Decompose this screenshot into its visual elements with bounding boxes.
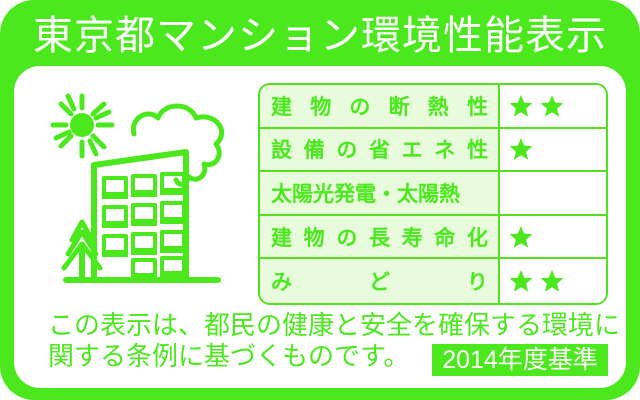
rating-label-insulation: 建 物 の 断 熱 性 [260, 85, 500, 127]
rating-label-longevity: 建 物 の 長 寿 命 化 [260, 216, 500, 258]
star-icon [509, 269, 533, 293]
sun-icon [70, 113, 94, 137]
star-icon [509, 137, 533, 161]
ratings-table: 建 物 の 断 熱 性 設 備 の 省 エ [258, 83, 608, 305]
table-row: 太陽光発電・太陽熱 [260, 172, 606, 216]
rating-stars-longevity [500, 216, 606, 258]
page-title: 東京都マンション環境性能表示 [33, 14, 607, 58]
year-standard-badge: 2014年度基準 [432, 344, 608, 376]
rating-label-energy-efficiency: 設 備 の 省 エ ネ 性 [260, 129, 500, 171]
table-row: 設 備 の 省 エ ネ 性 [260, 129, 606, 173]
footer: この表示は、都民の健康と安全を確保する環境に 関する条例に基づくものです。 20… [14, 308, 626, 388]
rating-stars-energy-efficiency [500, 129, 606, 171]
rating-label-solar: 太陽光発電・太陽熱 [260, 172, 500, 214]
rating-label-greenery: み ど り [260, 259, 500, 303]
environmental-performance-label: 東京都マンション環境性能表示 [0, 0, 640, 400]
table-row: 建 物 の 断 熱 性 [260, 85, 606, 129]
rating-stars-greenery [500, 259, 606, 303]
rating-stars-insulation [500, 85, 606, 127]
star-icon [540, 269, 564, 293]
rating-stars-solar [500, 172, 606, 214]
footer-line-1: この表示は、都民の健康と安全を確保する環境に [48, 310, 608, 341]
star-icon [509, 225, 533, 249]
star-icon [540, 94, 564, 118]
illustration-apartment-scene [38, 80, 266, 302]
inner-panel: 建 物 の 断 熱 性 設 備 の 省 エ [14, 66, 626, 388]
title-bar: 東京都マンション環境性能表示 [0, 8, 640, 64]
star-icon [509, 94, 533, 118]
table-row: 建 物 の 長 寿 命 化 [260, 216, 606, 260]
table-row: み ど り [260, 259, 606, 303]
